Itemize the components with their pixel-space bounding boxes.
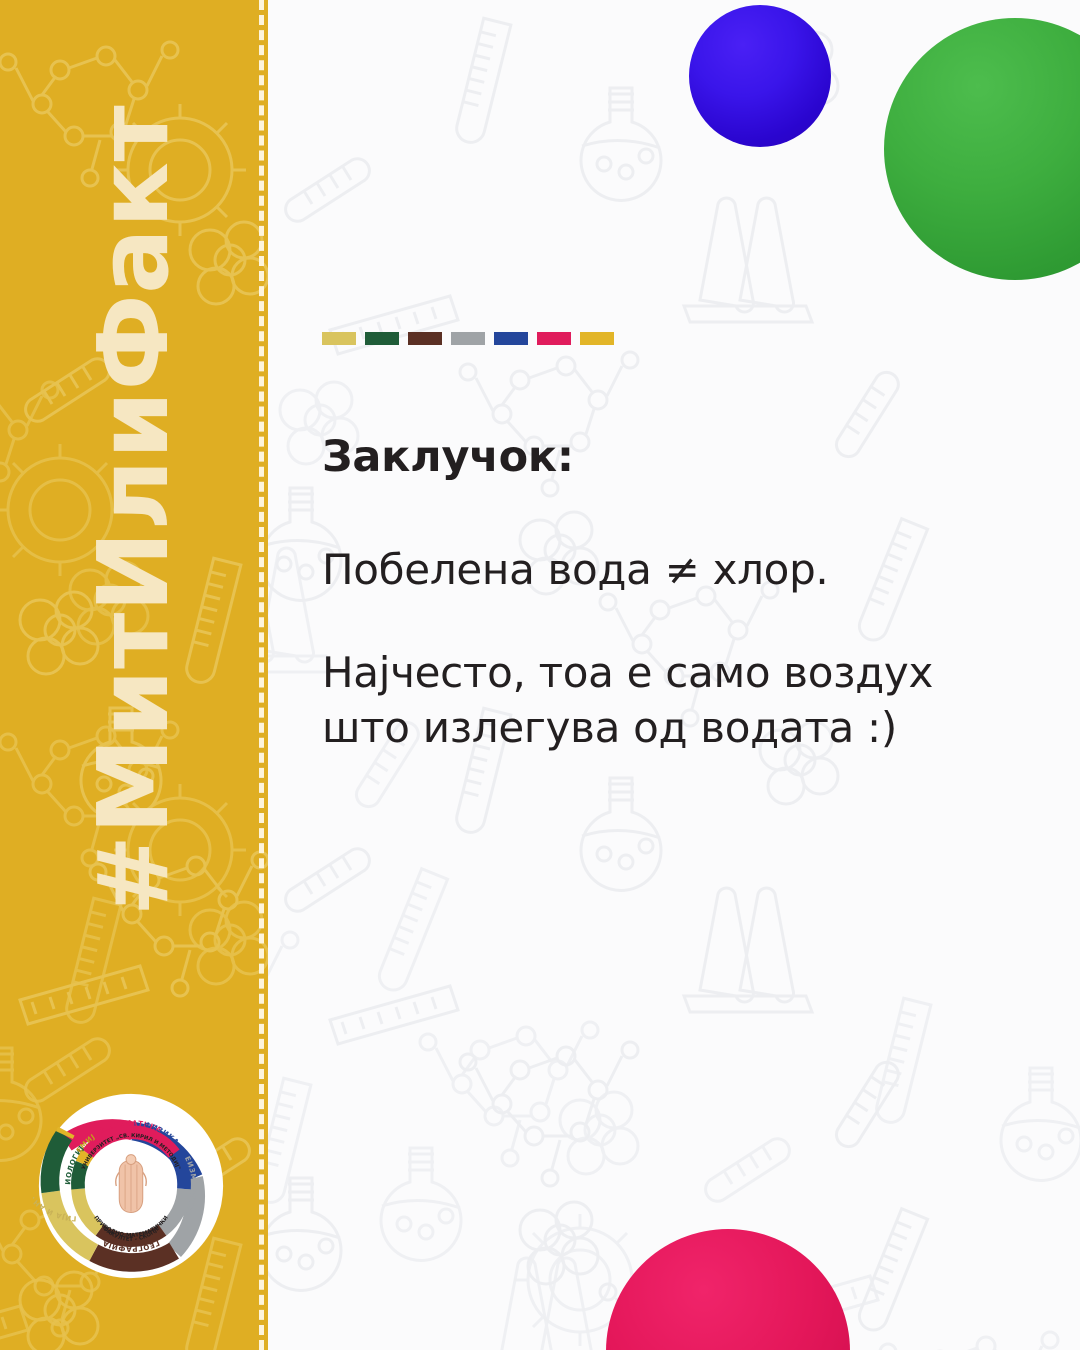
logo-inner-arc-biology [78, 1163, 82, 1188]
brand-hashtag: #МитИлиФакт [86, 104, 183, 915]
swatch-mathematics [537, 332, 571, 345]
conclusion-heading: Заклучок: [322, 432, 1012, 484]
logo-arc-chemistry [64, 1131, 66, 1135]
swatch-chemistry [580, 332, 614, 345]
swatch-geography [408, 332, 442, 345]
conclusion-paragraph-2: Најчесто, тоа е само воздух што излегува… [322, 645, 1012, 756]
swatch-physics [494, 332, 528, 345]
main-content: Заклучок: Побелена вода ≠ хлор. Најчесто… [322, 432, 1012, 756]
swatch-seismology [451, 332, 485, 345]
faculty-logo: МАТЕМАТИКА ФИЗИКА СЕИЗМОЛОГИЈА ГЕОГРАФИЈ… [33, 1088, 229, 1284]
poster-root: #МитИлиФакт Заклучок: Побелена вода ≠ хл… [0, 0, 1080, 1350]
conclusion-paragraph-1: Побелена вода ≠ хлор. [322, 542, 1012, 597]
sphere-blue [689, 5, 831, 147]
brand-hashtag-container: #МитИлиФакт [0, 0, 268, 1020]
department-color-swatches [322, 332, 614, 345]
swatch-biology [365, 332, 399, 345]
swatch-ethnology-anthropology [322, 332, 356, 345]
sphere-pink [606, 1229, 850, 1350]
sphere-green [884, 18, 1080, 280]
